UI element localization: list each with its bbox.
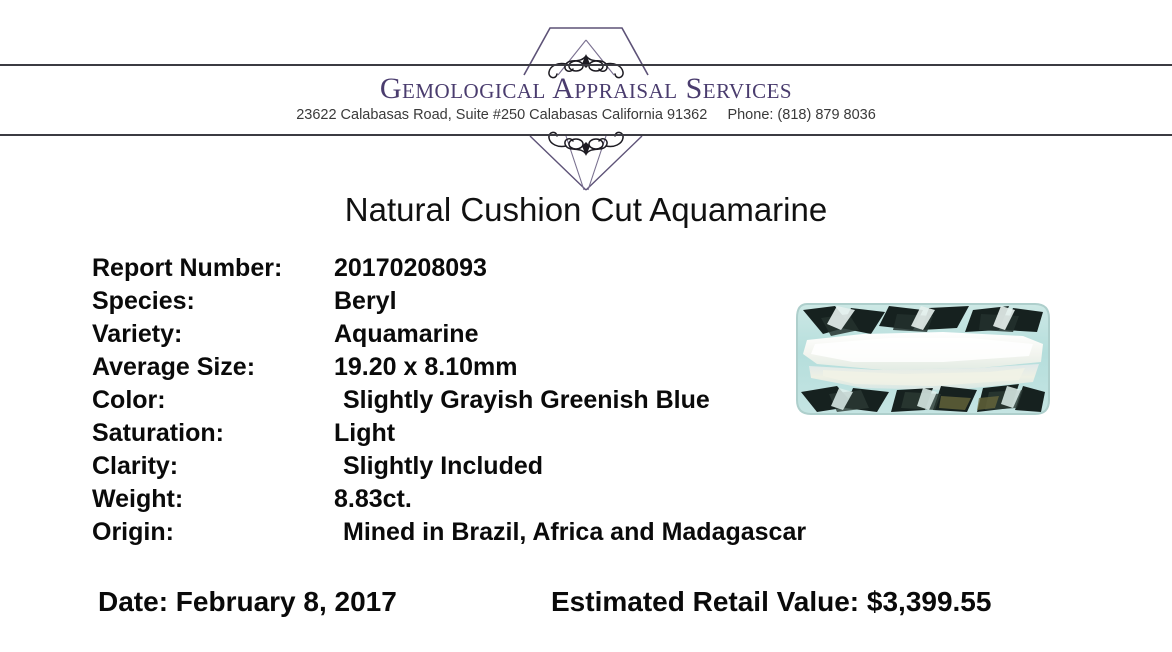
spec-label: Clarity: <box>92 450 334 483</box>
header-rule-top <box>0 64 1172 66</box>
spec-label: Saturation: <box>92 417 334 450</box>
brand-address-line: 23622 Calabasas Road, Suite #250 Calabas… <box>0 107 1172 123</box>
spec-row: Clarity:Slightly Included <box>92 450 792 483</box>
spec-row: Species:Beryl <box>92 285 792 318</box>
page-title: Natural Cushion Cut Aquamarine <box>0 191 1172 229</box>
spec-row: Report Number:20170208093 <box>92 252 792 285</box>
spec-label: Variety: <box>92 318 334 351</box>
spec-value: 20170208093 <box>334 252 487 285</box>
spec-label: Origin: <box>92 516 334 549</box>
spec-value: Slightly Grayish Greenish Blue <box>334 384 710 417</box>
spec-value: Beryl <box>334 285 397 318</box>
brand-wordmark: Gemological Appraisal Services <box>0 72 1172 106</box>
appraisal-certificate-page: Gemological Appraisal Services 23622 Cal… <box>0 0 1172 652</box>
aquamarine-gemstone-photo <box>793 300 1053 418</box>
spec-row: Weight:8.83ct. <box>92 483 792 516</box>
appraisal-date: Date: February 8, 2017 <box>98 586 397 618</box>
spec-label: Weight: <box>92 483 334 516</box>
spec-label: Average Size: <box>92 351 334 384</box>
header-rule-bottom <box>0 134 1172 136</box>
spec-value: Mined in Brazil, Africa and Madagascar <box>334 516 806 549</box>
gem-specification-list: Report Number:20170208093Species:BerylVa… <box>92 252 792 549</box>
spec-value: 8.83ct. <box>334 483 412 516</box>
spec-label: Color: <box>92 384 334 417</box>
spec-row: Variety:Aquamarine <box>92 318 792 351</box>
spec-value: Aquamarine <box>334 318 478 351</box>
spec-row: Origin:Mined in Brazil, Africa and Madag… <box>92 516 792 549</box>
spec-label: Species: <box>92 285 334 318</box>
certificate-footer: Date: February 8, 2017 Estimated Retail … <box>0 586 1172 626</box>
spec-value: Slightly Included <box>334 450 543 483</box>
spec-label: Report Number: <box>92 252 334 285</box>
certificate-header: Gemological Appraisal Services 23622 Cal… <box>0 0 1172 190</box>
estimated-retail-value: Estimated Retail Value: $3,399.55 <box>551 586 991 618</box>
spec-value: Light <box>334 417 395 450</box>
spec-value: 19.20 x 8.10mm <box>334 351 517 384</box>
spec-row: Color:Slightly Grayish Greenish Blue <box>92 384 792 417</box>
spec-row: Saturation:Light <box>92 417 792 450</box>
spec-row: Average Size:19.20 x 8.10mm <box>92 351 792 384</box>
